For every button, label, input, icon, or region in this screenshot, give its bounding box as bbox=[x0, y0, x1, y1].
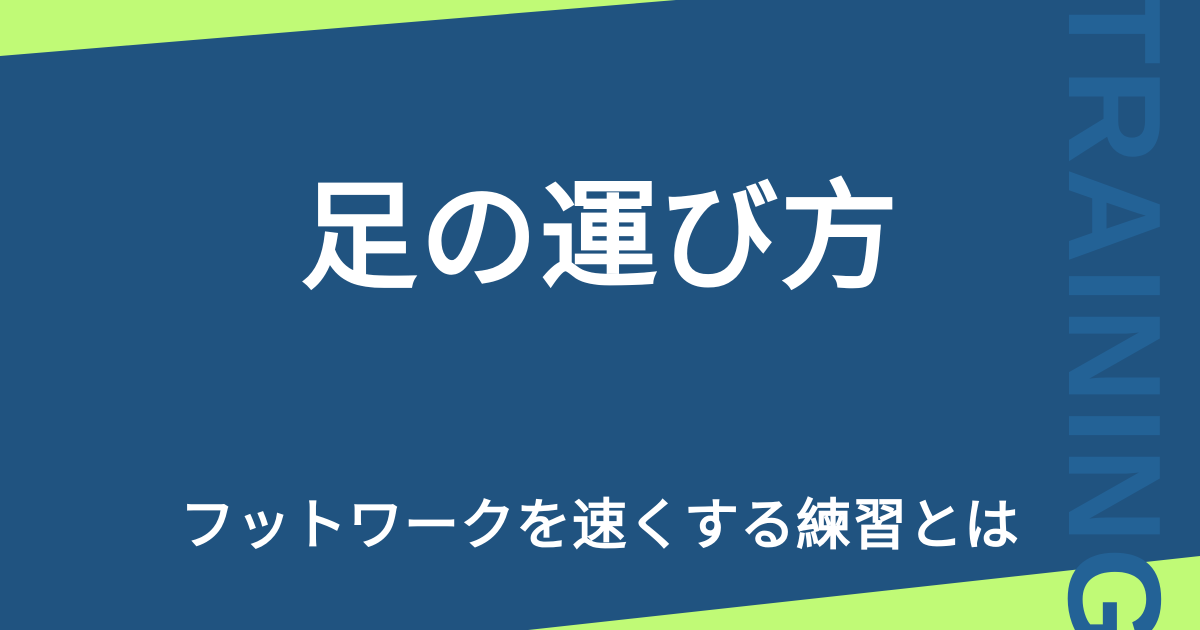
page-title: 足の運び方 bbox=[0, 168, 1200, 307]
page-subtitle: フットワークを速くする練習とは bbox=[0, 492, 1200, 558]
thumbnail-card: TRAINING 足の運び方 フットワークを速くする練習とは bbox=[0, 0, 1200, 630]
card-content: 足の運び方 フットワークを速くする練習とは bbox=[0, 0, 1200, 630]
